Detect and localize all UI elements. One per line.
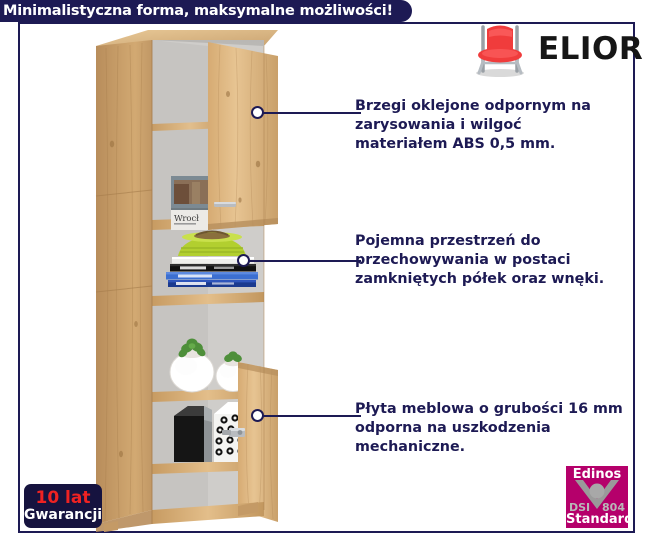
warranty-label-text: Gwarancji <box>24 508 102 522</box>
red-chair-icon <box>470 19 532 79</box>
infographic-canvas: Minimalistyczna forma, maksymalne możliw… <box>0 0 650 550</box>
annotation-2-text: Pojemna przestrzeń do przechowywania w p… <box>355 232 650 289</box>
annotation-3-text: Płyta meblowa o grubości 16 mm odporna n… <box>355 400 650 457</box>
brand-name-text: ELIOR <box>538 34 643 65</box>
product-image: Wrocł <box>88 24 278 532</box>
annotation-1-text: Brzegi oklejone odpornym na zarysowania … <box>355 97 645 154</box>
edinos-standards-text: Standards <box>566 513 628 526</box>
annotation-3-leader-line <box>263 415 361 417</box>
edinos-badge: Edinos DSI 804 Standards <box>566 466 628 528</box>
warranty-years-text: 10 lat <box>35 490 90 507</box>
warranty-badge: 10 lat Gwarancji <box>24 484 102 528</box>
annotation-2-leader-line <box>249 260 361 262</box>
svg-text:Wrocł: Wrocł <box>174 214 199 224</box>
header-banner-text: Minimalistyczna forma, maksymalne możliw… <box>3 3 393 19</box>
brand-logo: ELIOR <box>470 18 630 80</box>
header-banner: Minimalistyczna forma, maksymalne możliw… <box>0 0 412 22</box>
annotation-1-leader-line <box>263 112 361 114</box>
